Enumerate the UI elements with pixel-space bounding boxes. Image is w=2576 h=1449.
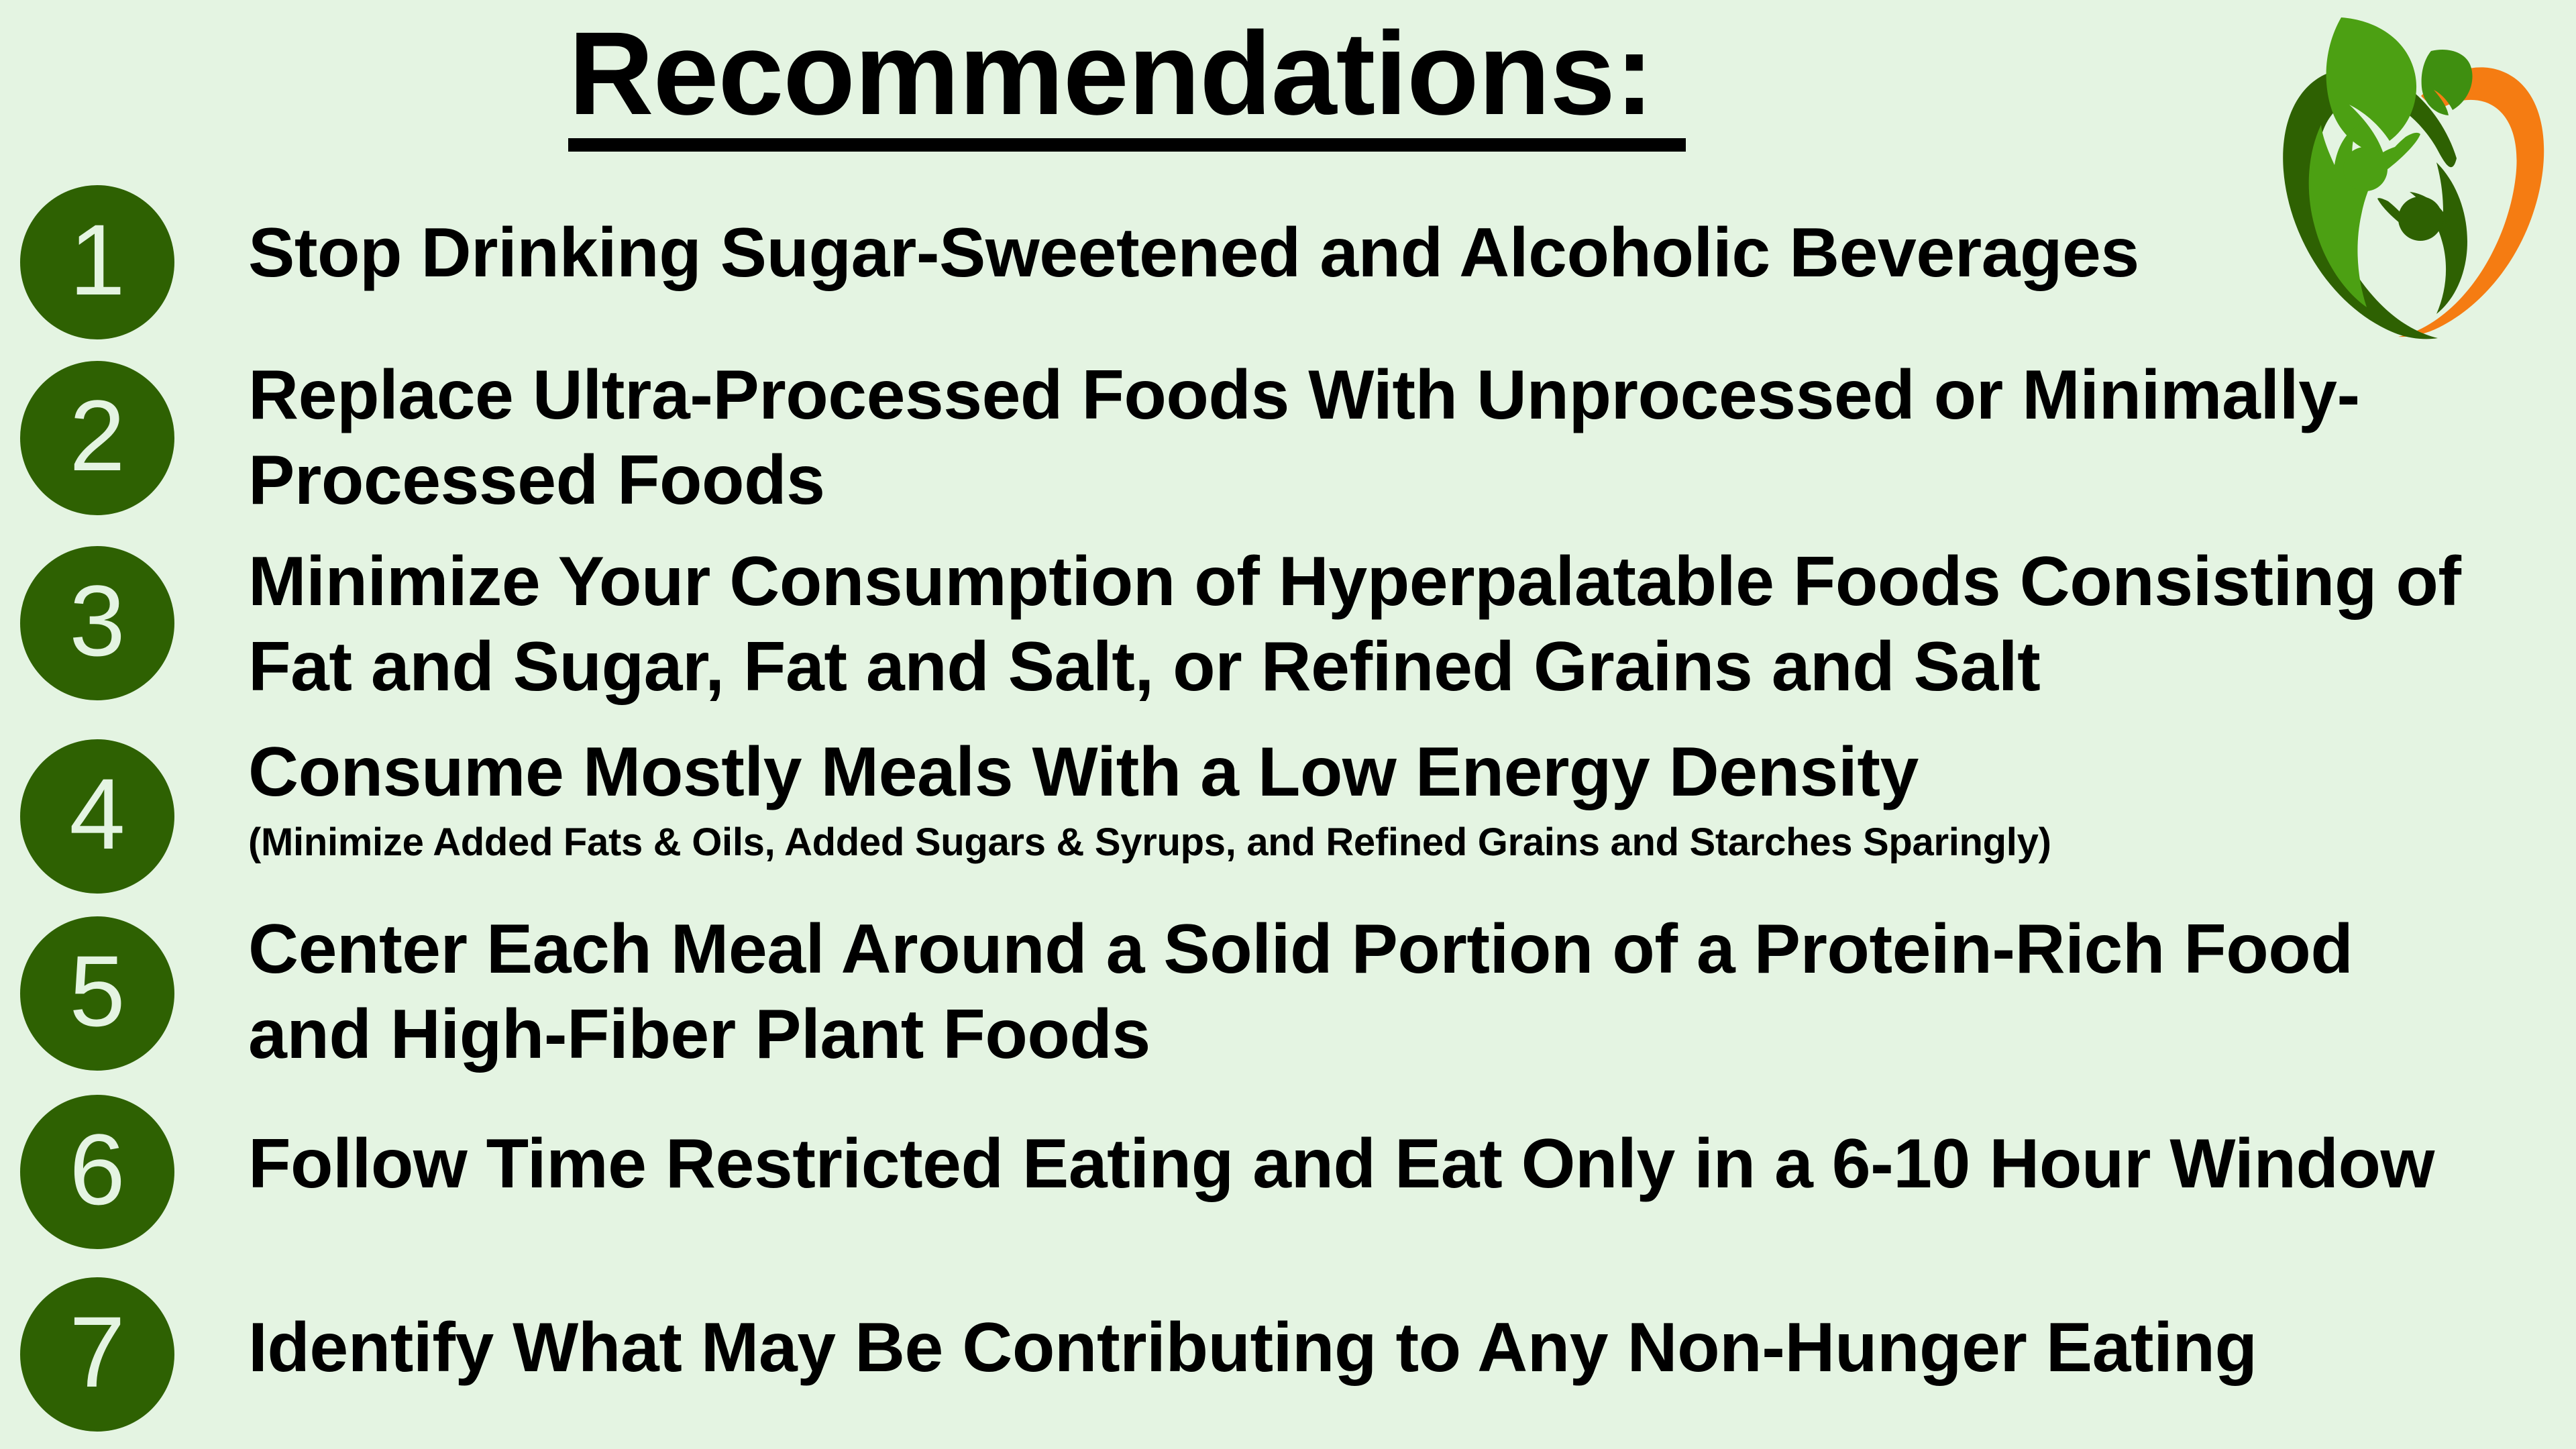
recommendation-text: Minimize Your Consumption of Hyperpalata… [248,539,2462,710]
logo-small-leaf-icon [2422,50,2473,115]
recommendation-text: Consume Mostly Meals With a Low Energy D… [248,730,2462,865]
page-title: Recommendations: [0,15,2254,152]
page-title-text: Recommendations: [568,15,1685,152]
apple-people-logo-icon [2266,4,2561,366]
recommendation-text: Center Each Meal Around a Solid Portion … [248,907,2462,1077]
recommendation-number-badge: 2 [20,361,174,515]
recommendation-text-main: Consume Mostly Meals With a Low Energy D… [248,733,1919,811]
recommendation-number-badge: 5 [20,916,174,1071]
recommendation-subtext: (Minimize Added Fats & Oils, Added Sugar… [248,819,2462,866]
slide-header: Recommendations: [0,0,2576,201]
recommendation-number-badge: 4 [20,739,174,894]
recommendation-number-badge: 6 [20,1095,174,1249]
recommendation-text: Follow Time Restricted Eating and Eat On… [248,1122,2462,1207]
recommendation-number-badge: 7 [20,1277,174,1432]
recommendation-text: Replace Ultra-Processed Foods With Unpro… [248,353,2462,523]
recommendation-text: Stop Drinking Sugar-Sweetened and Alcoho… [248,211,2462,296]
logo-person-left-head [2343,147,2387,191]
recommendation-number-badge: 1 [20,185,174,339]
recommendation-text: Identify What May Be Contributing to Any… [248,1305,2462,1391]
recommendation-number-badge: 3 [20,546,174,700]
brand-logo [2266,4,2561,366]
logo-large-leaf-icon [2326,17,2416,156]
